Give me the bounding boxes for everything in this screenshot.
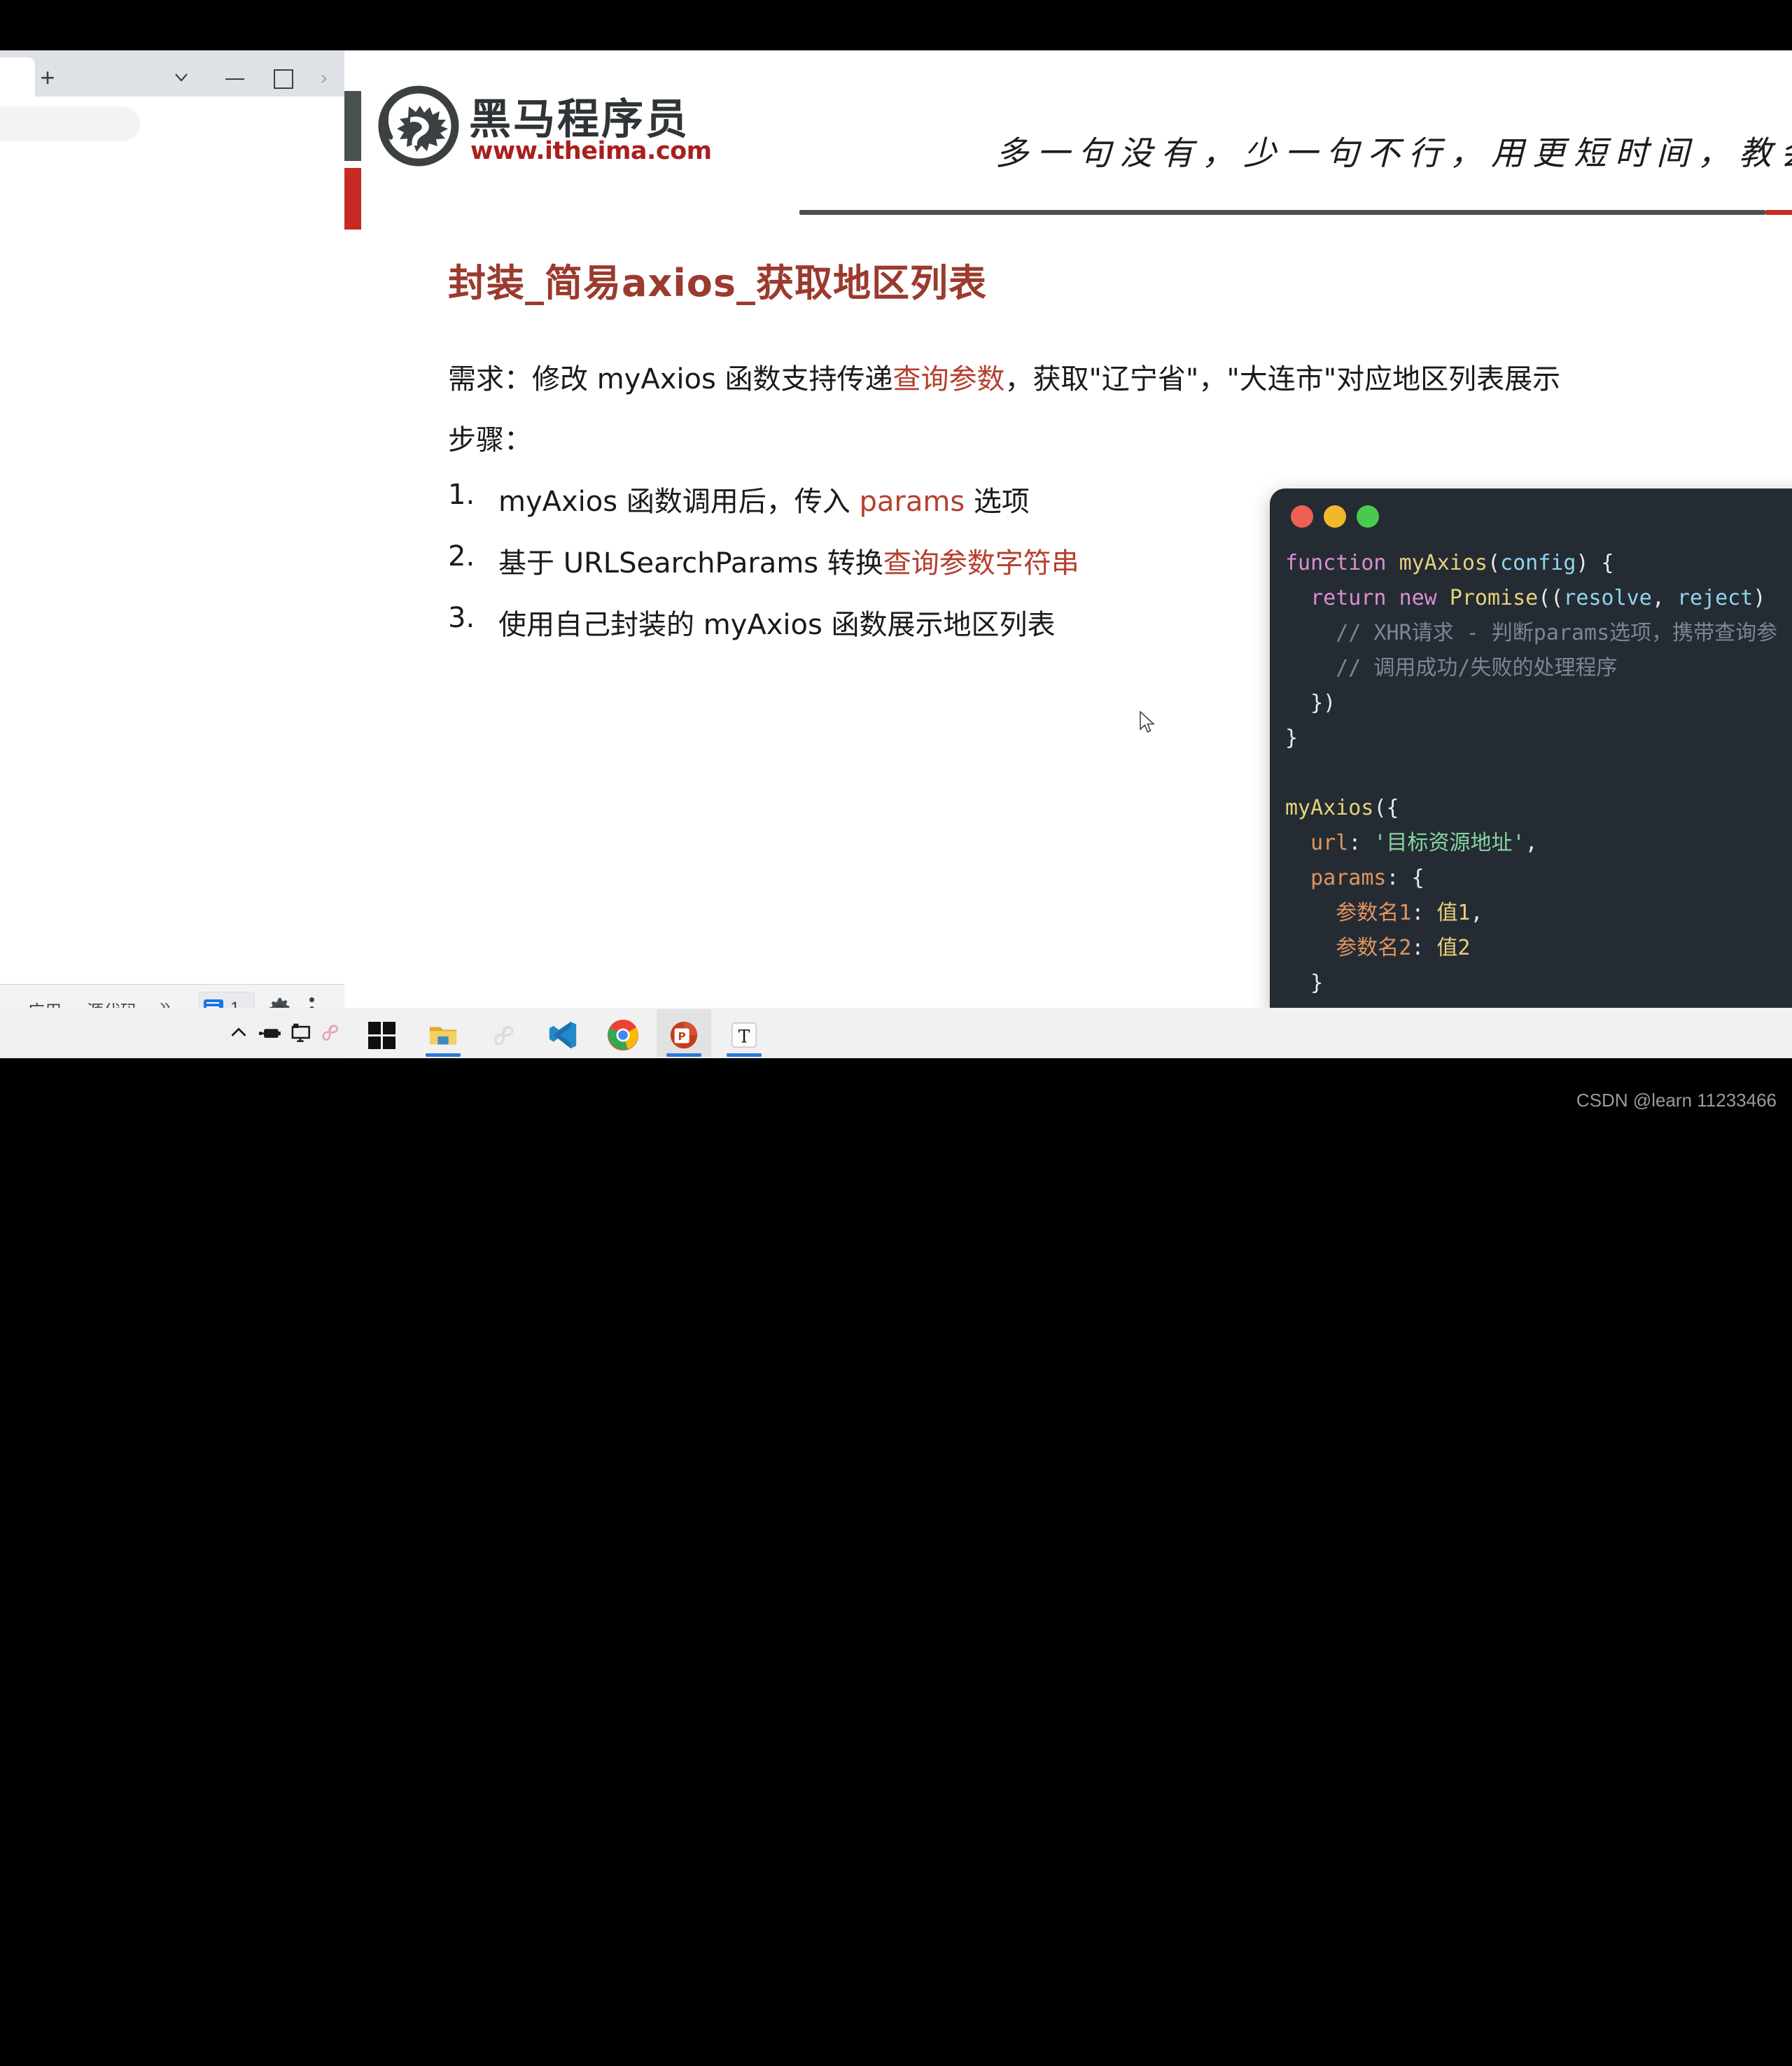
code-token: // XHR请求 - 判断params选项，携带查询参	[1285, 621, 1777, 645]
horse-head-logo-icon	[378, 85, 459, 167]
code-text: function myAxios(config) { return new Pr…	[1285, 546, 1777, 1008]
code-line: }	[1285, 966, 1777, 1001]
step-text-highlight: 查询参数字符串	[883, 547, 1079, 579]
requirement-line: 需求：修改 myAxios 函数支持传递查询参数，获取"辽宁省"，"大连市"对应…	[448, 356, 1560, 397]
message-count: 1	[230, 999, 239, 1008]
list-item-number: 1.	[448, 479, 487, 511]
red-dot	[1291, 505, 1313, 528]
list-item-number: 2.	[448, 540, 487, 572]
yellow-dot	[1324, 505, 1346, 528]
requirement-highlight: 查询参数	[893, 363, 1005, 395]
taskbar-item-windows-start[interactable]	[356, 1009, 410, 1057]
code-token: ,	[1652, 586, 1677, 610]
gear-icon[interactable]	[267, 996, 293, 1008]
pink-flower-icon[interactable]	[316, 1019, 343, 1046]
close-icon[interactable]: close-icon	[0, 69, 8, 87]
code-token: params	[1285, 866, 1387, 890]
slide-slogan: 多一句没有，少一句不行，用更短时间，教会	[995, 126, 1792, 174]
code-line: return new Promise((resolve, reject)	[1285, 581, 1777, 616]
code-token: url	[1285, 831, 1348, 855]
code-token: new	[1399, 586, 1450, 610]
taskbar-item-netease-music[interactable]	[476, 1009, 531, 1057]
svg-text:P: P	[678, 1030, 686, 1043]
code-token: '目标资源地址'	[1373, 831, 1525, 855]
battery-charging-icon[interactable]	[256, 1019, 283, 1046]
taskbar-item-vscode[interactable]	[536, 1009, 591, 1057]
new-tab-button[interactable]: +	[31, 63, 64, 92]
screen-root: close-icon + › 0/09.封装_简易...	[0, 0, 1792, 1120]
code-line: // 调用成功/失败的处理程序	[1285, 651, 1777, 686]
code-token: }	[1285, 971, 1323, 995]
code-token: Promise	[1450, 586, 1538, 610]
close-chevron: ›	[321, 66, 327, 89]
window-close-button[interactable]: ›	[314, 63, 344, 91]
code-token: ) {	[1576, 551, 1613, 575]
step-text-pre: myAxios 函数调用后，传入	[498, 486, 860, 518]
code-token: 参数名1	[1285, 901, 1411, 925]
browser-window: close-icon + › 0/09.封装_简易...	[0, 50, 344, 1008]
code-token: resolve	[1563, 586, 1651, 610]
mouse-cursor-icon	[1139, 711, 1157, 735]
devtools-message-badge[interactable]: 1	[199, 992, 255, 1008]
presentation-slide: 黑马程序员 www.itheima.com 多一句没有，少一句不行，用更短时间，…	[344, 50, 1792, 1008]
code-line: }	[1285, 721, 1777, 756]
green-dot	[1357, 505, 1379, 528]
code-token: ,	[1471, 901, 1483, 925]
code-token: function	[1285, 551, 1399, 575]
step-text-highlight: params	[860, 486, 965, 518]
code-token: :	[1348, 831, 1373, 855]
step-text-post: 选项	[965, 486, 1030, 518]
window-traffic-lights	[1291, 505, 1438, 529]
list-item: 3. 使用自己封装的 myAxios 函数展示地区列表	[448, 602, 1253, 663]
code-token: 值2	[1436, 936, 1470, 960]
list-item-text: myAxios 函数调用后，传入 params 选项	[498, 479, 1030, 519]
taskbar-active-indicator	[426, 1053, 461, 1057]
requirement-suffix: ，获取"辽宁省"，"大连市"对应地区列表展示	[1005, 363, 1561, 395]
list-item-text: 使用自己封装的 myAxios 函数展示地区列表	[498, 602, 1056, 642]
steps-label: 步骤：	[448, 417, 532, 458]
code-token: return	[1285, 586, 1399, 610]
code-token: ({	[1373, 796, 1399, 820]
code-line: params: {	[1285, 861, 1777, 896]
browser-omnibox-bar	[0, 97, 344, 151]
chevron-down-icon[interactable]	[167, 66, 196, 88]
slide-red-accent-block	[344, 168, 361, 230]
window-maximize-button[interactable]	[265, 63, 301, 91]
code-token: ((	[1538, 586, 1563, 610]
message-bubble-icon	[204, 999, 223, 1008]
code-line: url: '目标资源地址',	[1285, 826, 1777, 861]
code-token: myAxios	[1399, 551, 1487, 575]
code-token: })	[1285, 691, 1336, 715]
code-line: 参数名1: 值1,	[1285, 896, 1777, 931]
code-token: reject	[1677, 586, 1753, 610]
code-token: : {	[1387, 866, 1424, 890]
brand-logo: 黑马程序员 www.itheima.com	[378, 83, 742, 169]
tab-sources[interactable]: 源代码	[87, 997, 137, 1008]
browser-tab-strip: close-icon + ›	[0, 50, 344, 97]
code-token: ,	[1525, 831, 1538, 855]
code-line: })	[1285, 686, 1777, 721]
devtools-overflow-button[interactable]: »	[160, 995, 171, 1008]
page-title: 封装_简易axios_获取地区列表	[448, 252, 987, 307]
taskbar-item-typora[interactable]: T	[717, 1009, 771, 1057]
code-token: :	[1411, 936, 1436, 960]
code-token: 值1	[1436, 901, 1470, 925]
taskbar-item-chrome[interactable]	[596, 1009, 651, 1057]
list-item: 2. 基于 URLSearchParams 转换查询参数字符串	[448, 540, 1253, 602]
code-line	[1285, 756, 1777, 791]
header-divider-dark	[799, 210, 1765, 215]
code-token: 参数名2	[1285, 936, 1411, 960]
code-token: :	[1411, 901, 1436, 925]
steps-list: 1. myAxios 函数调用后，传入 params 选项 2. 基于 URLS…	[448, 479, 1253, 663]
csdn-watermark: CSDN @learn 11233466	[1576, 1090, 1777, 1111]
web-page-viewport	[0, 151, 344, 984]
svg-text:T: T	[738, 1027, 750, 1047]
devtools-toolbar: 应用 源代码 » 1	[0, 984, 344, 1008]
code-token: myAxios	[1285, 796, 1373, 820]
windows-taskbar: P T	[0, 1008, 1792, 2066]
code-token: // 调用成功/失败的处理程序	[1285, 656, 1618, 680]
requirement-prefix: 需求：修改 myAxios 函数支持传递	[448, 363, 893, 395]
address-bar[interactable]	[0, 106, 140, 141]
slide-dark-accent-block	[344, 91, 361, 161]
code-line: myAxios({	[1285, 791, 1777, 826]
list-item: 1. myAxios 函数调用后，传入 params 选项	[448, 479, 1253, 540]
window-minimize-button[interactable]	[217, 63, 253, 91]
taskbar-active-indicator	[727, 1053, 762, 1057]
brand-url: www.itheima.com	[470, 137, 712, 165]
taskbar-active-indicator	[666, 1053, 701, 1057]
tab-application[interactable]: 应用	[28, 997, 62, 1008]
taskbar-item-file-explorer[interactable]	[416, 1009, 470, 1057]
code-line: 参数名2: 值2	[1285, 931, 1777, 966]
code-token: (	[1487, 551, 1500, 575]
list-item-text: 基于 URLSearchParams 转换查询参数字符串	[498, 540, 1079, 581]
windows-logo-icon	[368, 1022, 396, 1050]
code-snippet-card: function myAxios(config) { return new Pr…	[1270, 489, 1792, 1008]
system-tray	[225, 1019, 330, 1050]
step-text-pre: 基于 URLSearchParams 转换	[498, 547, 883, 579]
code-token: config	[1500, 551, 1576, 575]
display-monitor-icon[interactable]	[287, 1019, 314, 1046]
chevron-up-icon[interactable]	[225, 1019, 252, 1046]
code-line: // XHR请求 - 判断params选项，携带查询参	[1285, 616, 1777, 651]
taskbar-item-powerpoint[interactable]: P	[657, 1009, 711, 1057]
header-divider-red	[1765, 210, 1792, 215]
code-token: )	[1753, 586, 1765, 610]
code-line: function myAxios(config) {	[1285, 546, 1777, 581]
kebab-menu-icon[interactable]	[309, 996, 316, 1008]
step-text-pre: 使用自己封装的 myAxios 函数展示地区列表	[498, 609, 1056, 641]
code-token: }	[1285, 726, 1298, 750]
code-line: })	[1285, 1001, 1777, 1008]
list-item-number: 3.	[448, 602, 487, 634]
